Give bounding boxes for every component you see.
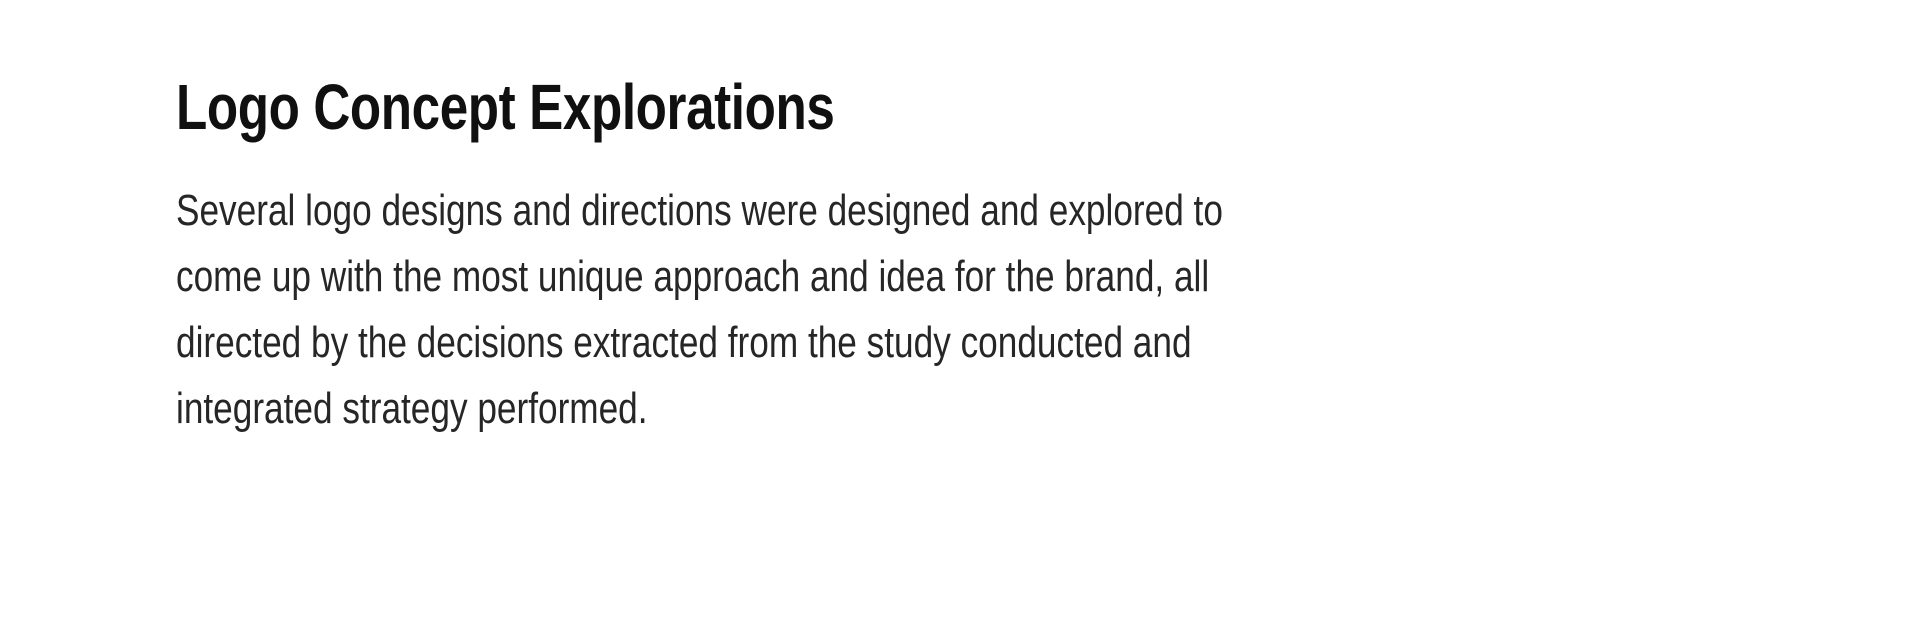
description-line: directed by the decisions extracted from… bbox=[176, 310, 1696, 376]
page-canvas: Logo Concept Explorations Several logo d… bbox=[0, 0, 1920, 621]
page-title: Logo Concept Explorations bbox=[176, 66, 1424, 148]
content-block: Logo Concept Explorations Several logo d… bbox=[176, 66, 1736, 442]
description-line: Several logo designs and directions were… bbox=[176, 178, 1696, 244]
description-line: integrated strategy performed. bbox=[176, 376, 1696, 442]
description-line: come up with the most unique approach an… bbox=[176, 244, 1696, 310]
section-description: Several logo designs and directions were… bbox=[176, 178, 1696, 442]
